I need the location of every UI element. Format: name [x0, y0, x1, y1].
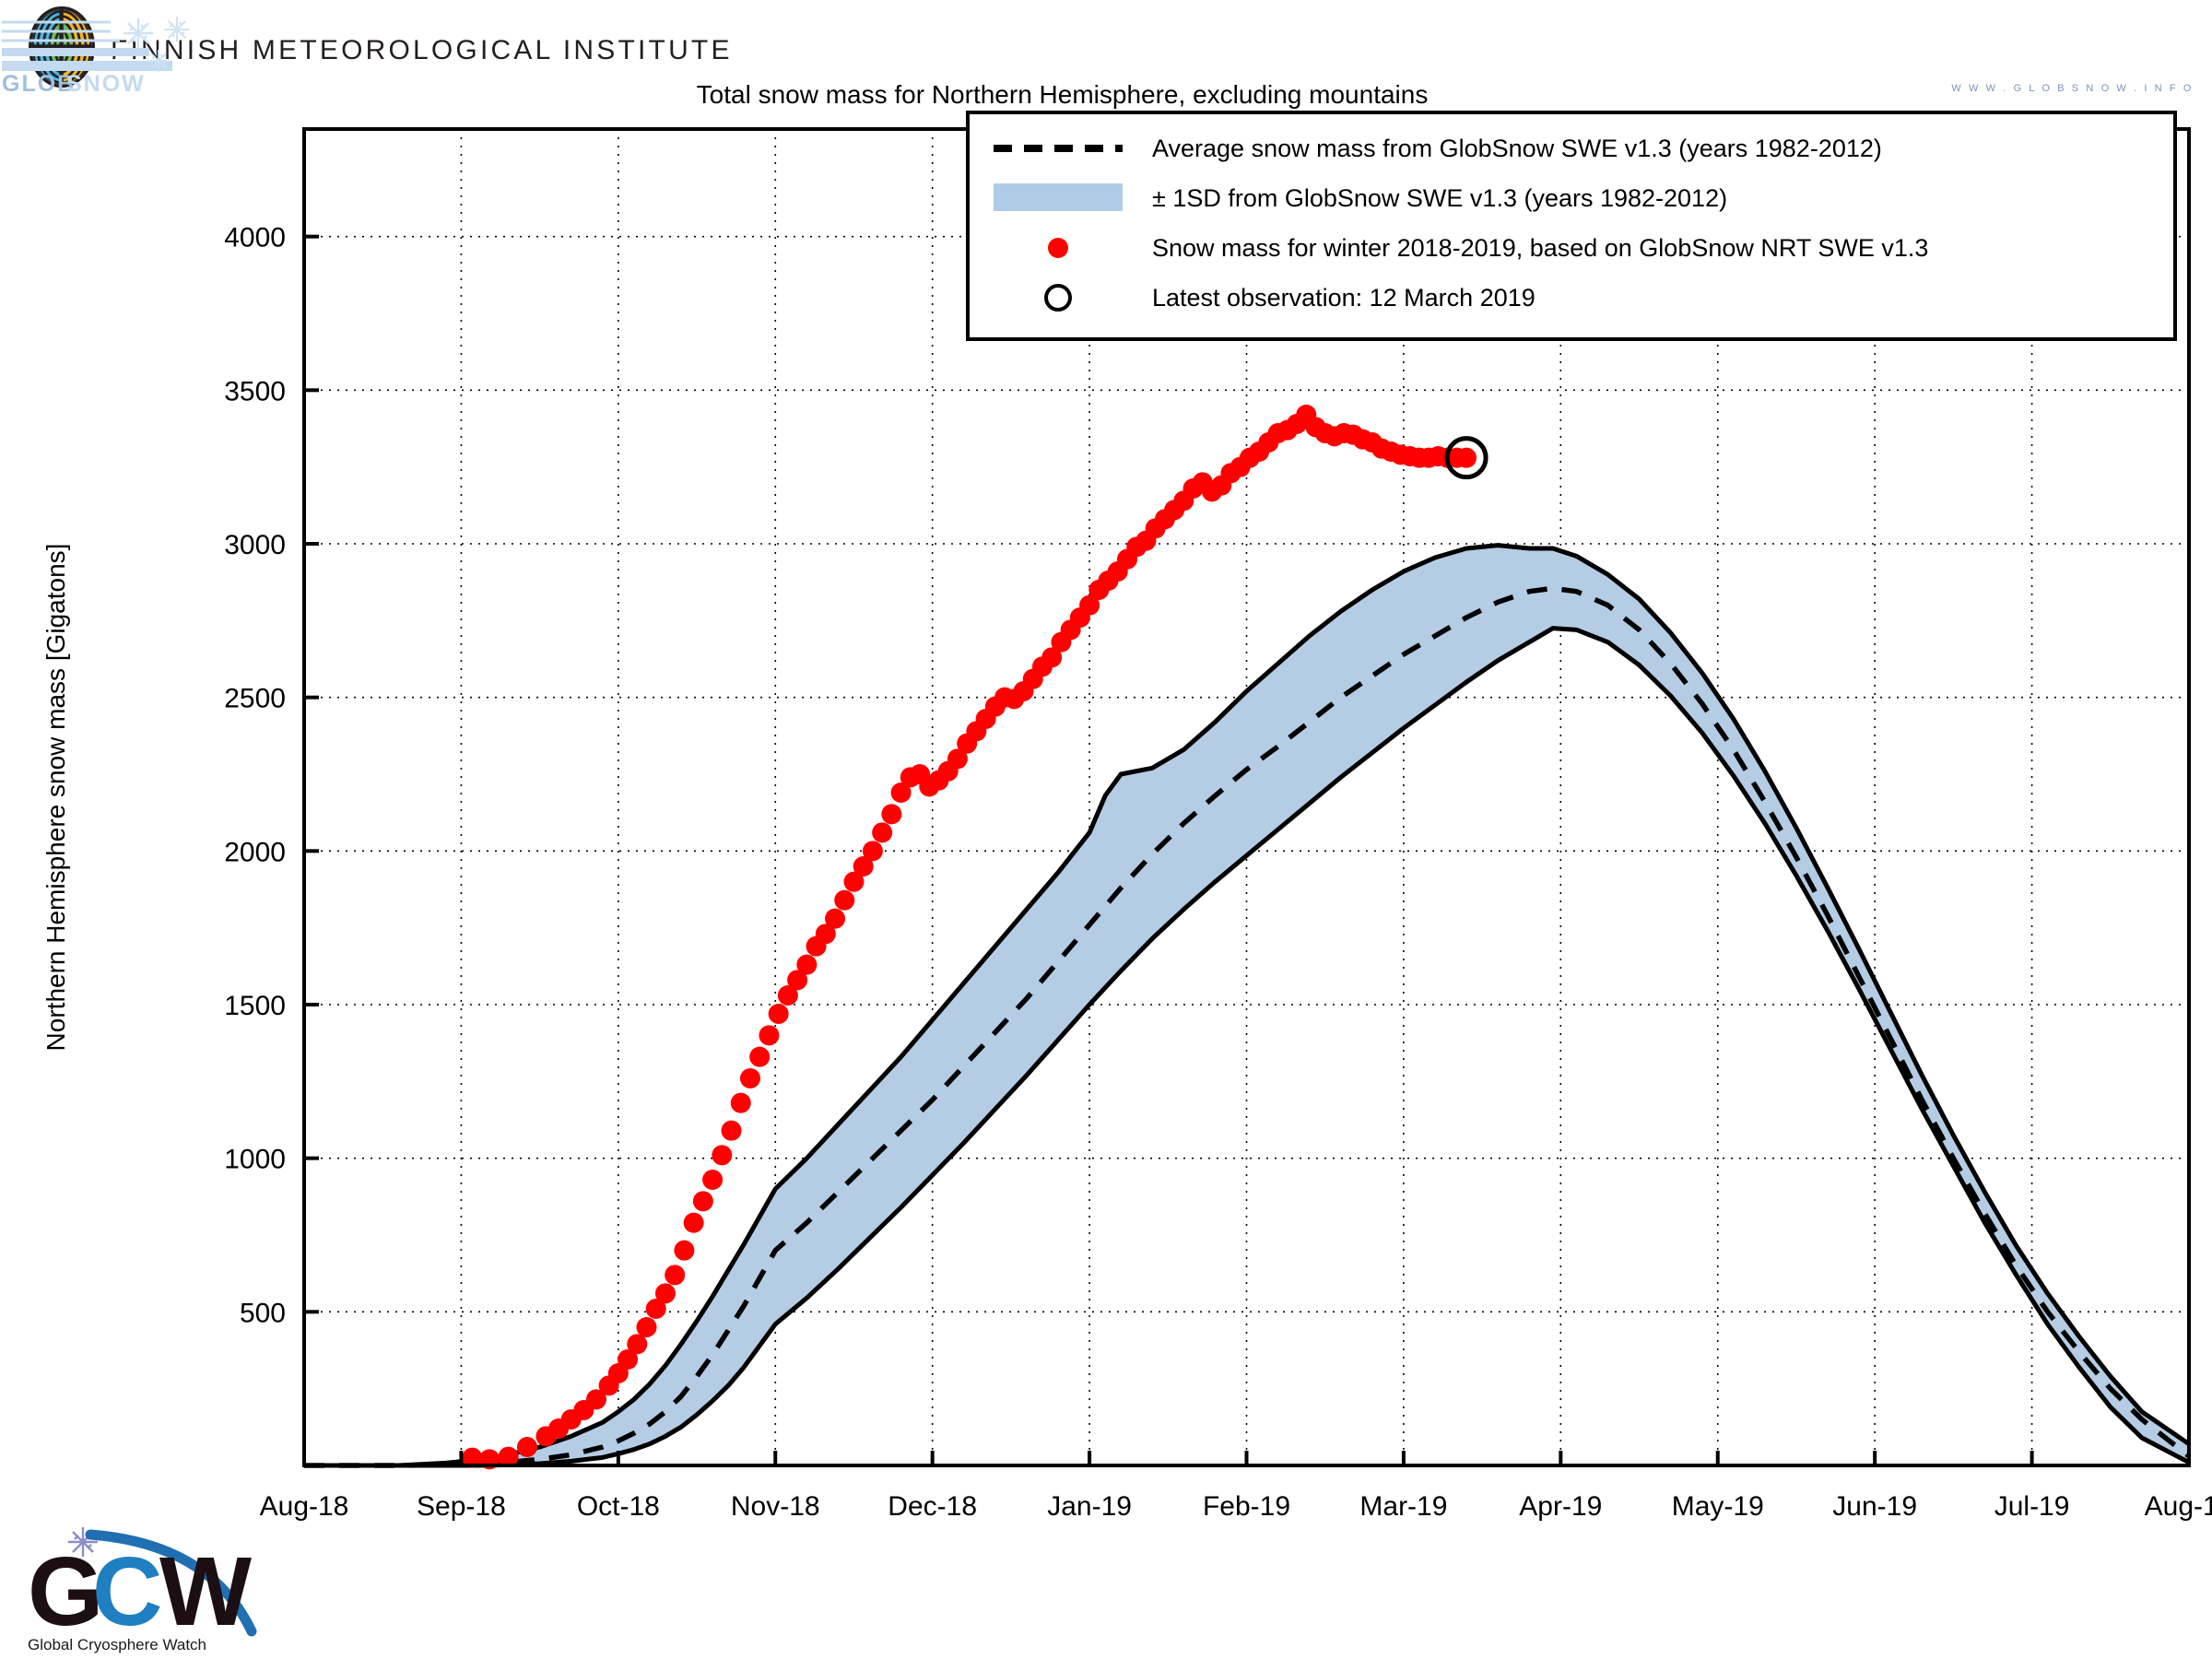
legend-marker-band: [994, 183, 1123, 211]
data-point-red: [834, 890, 854, 911]
data-point-red: [712, 1145, 732, 1165]
data-point-red: [863, 841, 883, 861]
y-tick-label: 4000: [224, 223, 286, 253]
y-tick-label: 3500: [224, 376, 286, 406]
x-tick-label: Jan-19: [1047, 1491, 1132, 1522]
data-point-red: [665, 1265, 685, 1285]
x-tick-label: Oct-18: [577, 1491, 660, 1522]
x-tick-label: Aug-19: [2145, 1491, 2212, 1522]
x-tick-label: Aug-18: [260, 1491, 349, 1522]
data-point-red: [693, 1191, 713, 1211]
x-tick-label: Dec-18: [888, 1491, 977, 1522]
sd-band-area: [304, 546, 2189, 1465]
data-point-red: [517, 1437, 537, 1457]
x-tick-label: Feb-19: [1203, 1491, 1290, 1522]
data-point-red: [759, 1025, 779, 1045]
legend-label: Snow mass for winter 2018-2019, based on…: [1152, 234, 1928, 262]
x-tick-label: Mar-19: [1359, 1491, 1447, 1522]
x-tick-label: May-19: [1672, 1491, 1764, 1522]
x-tick-label: Sep-18: [417, 1491, 506, 1522]
snow-mass-chart: 5001000150020002500300035004000Aug-18Sep…: [0, 0, 2212, 1659]
y-tick-label: 2500: [224, 684, 286, 714]
data-point-red: [731, 1093, 751, 1113]
data-point-red: [684, 1213, 704, 1233]
series-line: [304, 546, 2189, 1465]
x-tick-label: Jul-19: [1994, 1491, 2070, 1522]
y-tick-label: 2000: [224, 837, 286, 867]
legend-label: Average snow mass from GlobSnow SWE v1.3…: [1152, 135, 1882, 162]
chart-title: Total snow mass for Northern Hemisphere,…: [697, 80, 1429, 109]
data-point-red: [674, 1241, 694, 1261]
y-tick-label: 500: [240, 1298, 286, 1328]
data-point-red: [769, 1004, 789, 1024]
legend-label: Latest observation: 12 March 2019: [1152, 284, 1535, 312]
data-point-red: [702, 1170, 723, 1190]
data-point-red: [1456, 448, 1477, 468]
y-tick-label: 1500: [224, 991, 286, 1021]
x-tick-label: Nov-18: [731, 1491, 820, 1522]
data-point-red: [881, 804, 901, 824]
x-tick-label: Apr-19: [1519, 1491, 1602, 1522]
y-axis-label: Northern Hemisphere snow mass [Gigatons]: [41, 544, 70, 1052]
data-point-red: [825, 909, 845, 929]
legend-label: ± 1SD from GlobSnow SWE v1.3 (years 1982…: [1152, 184, 1727, 212]
x-tick-label: Jun-19: [1832, 1491, 1917, 1522]
data-point-red: [796, 955, 817, 975]
legend-marker-red-dot: [1048, 238, 1068, 258]
data-point-red: [749, 1047, 770, 1067]
data-point-red: [740, 1068, 760, 1088]
y-tick-label: 1000: [224, 1145, 286, 1175]
data-point-red: [872, 822, 892, 842]
y-tick-label: 3000: [224, 530, 286, 560]
data-point-red: [655, 1283, 676, 1303]
data-point-red: [637, 1317, 657, 1337]
data-point-red: [722, 1121, 742, 1141]
